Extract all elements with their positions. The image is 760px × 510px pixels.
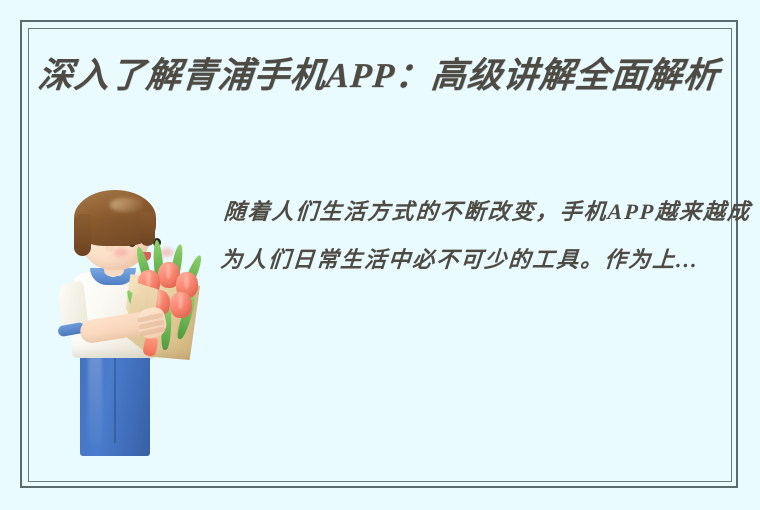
illustration-stage	[52, 188, 212, 456]
legs-seam	[114, 348, 116, 443]
article-excerpt: 随着人们生活方式的不断改变，手机APP越来越成为人们日常生活中必不可少的工具。作…	[219, 188, 760, 284]
hair-highlight	[110, 198, 144, 212]
tulip-flower	[170, 292, 192, 318]
hair-sideburn-left	[74, 214, 91, 256]
hair-sideburn-right	[140, 212, 155, 246]
tulip-bouquet	[118, 248, 212, 358]
article-title: 深入了解青浦手机APP：高级讲解全面解析	[36, 52, 760, 100]
article-illustration	[52, 188, 212, 456]
character-legs	[80, 342, 150, 456]
legs-highlight	[88, 350, 102, 446]
article-card: 深入了解青浦手机APP：高级讲解全面解析	[0, 0, 760, 510]
